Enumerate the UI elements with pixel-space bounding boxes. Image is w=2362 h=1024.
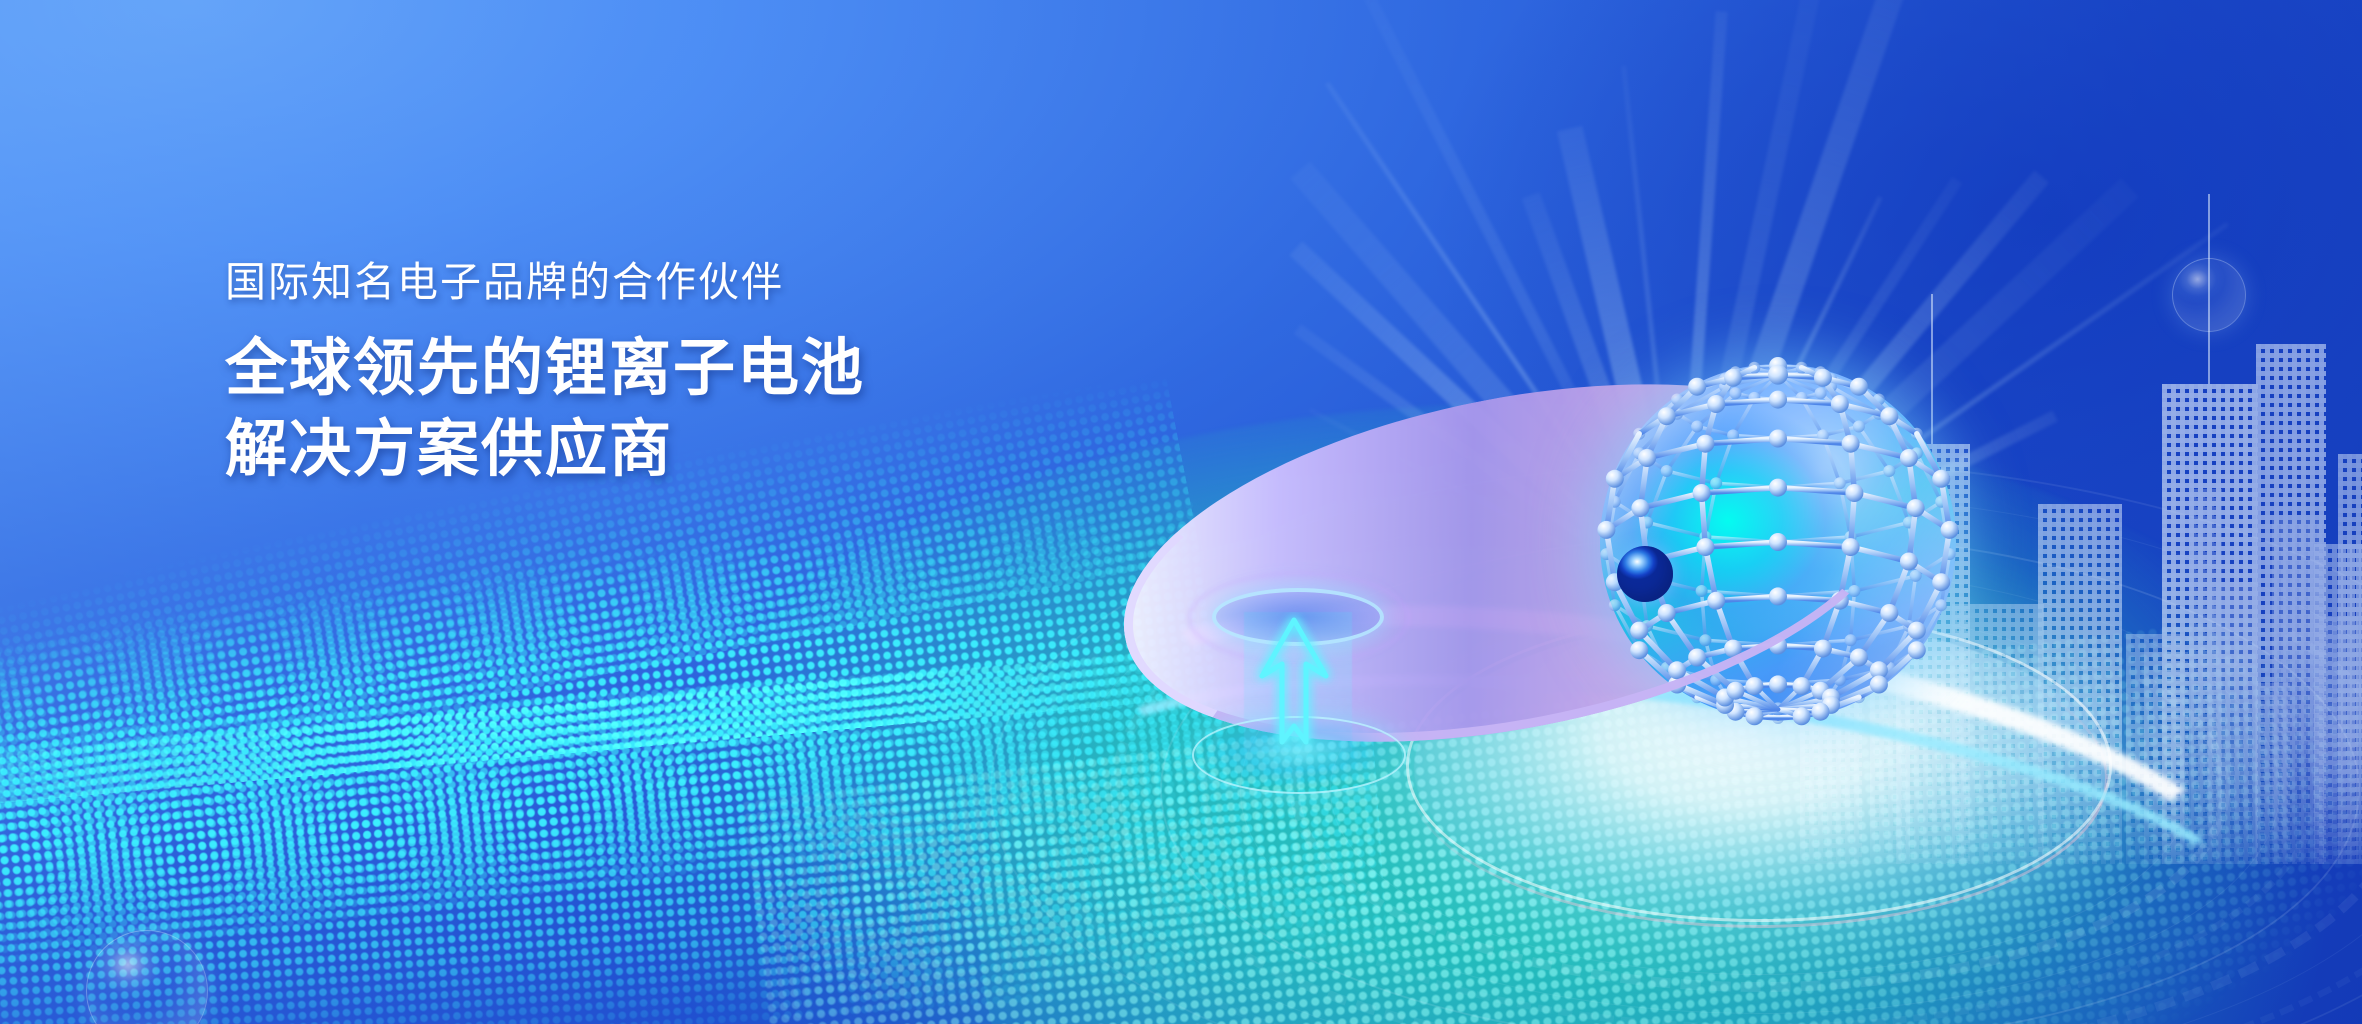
hero-banner: 国际知名电子品牌的合作伙伴 全球领先的锂离子电池 解决方案供应商 xyxy=(0,0,2362,1024)
banner-eyebrow: 国际知名电子品牌的合作伙伴 xyxy=(225,258,1125,307)
banner-headline-line-1: 全球领先的锂离子电池 xyxy=(225,329,1125,410)
cursor-arrow-icon xyxy=(1248,612,1348,752)
glass-bubble-top-right xyxy=(2172,258,2246,332)
glass-bubble-bottom-left xyxy=(86,930,208,1024)
hero-copy: 国际知名电子品牌的合作伙伴 全球领先的锂离子电池 解决方案供应商 xyxy=(225,258,1125,490)
orbit-bead-sphere xyxy=(1617,546,1673,602)
banner-headline-line-2: 解决方案供应商 xyxy=(225,410,1125,491)
